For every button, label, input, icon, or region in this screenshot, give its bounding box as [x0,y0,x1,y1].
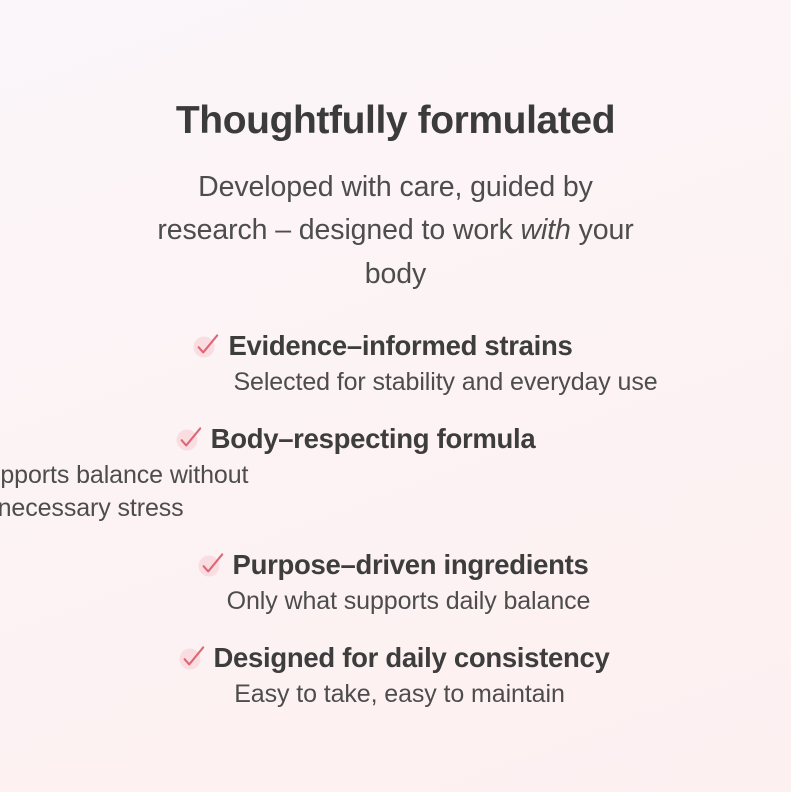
feature-description-line: Only what supports daily balance [26,585,791,618]
promo-panel: Thoughtfully formulated Developed with c… [0,0,791,792]
feature-description-line: Supports balance without [0,459,791,492]
feature-description-line: Selected for stability and everyday use [100,366,791,399]
feature-list: Evidence–informed strains Selected for s… [0,328,791,711]
page-subtitle-emphasis: with [520,214,570,246]
feature-item: Body–respecting formula Supports balance… [0,421,791,525]
check-circle-icon [197,551,225,579]
feature-heading-row: Purpose–driven ingredients [233,547,589,583]
check-circle-icon [178,644,206,672]
check-circle-icon [192,332,220,360]
page-title: Thoughtfully formulated [0,98,791,144]
feature-description-line: Easy to take, easy to maintain [8,678,791,711]
feature-item: Purpose–driven ingredients Only what sup… [0,547,791,618]
feature-heading-row: Evidence–informed strains [228,328,572,364]
header: Thoughtfully formulated Developed with c… [0,0,791,296]
feature-title: Purpose–driven ingredients [233,547,589,583]
feature-description-line: unnecessary stress [0,492,791,525]
feature-item: Designed for daily consistency Easy to t… [0,640,791,711]
feature-title: Evidence–informed strains [228,328,572,364]
feature-item: Evidence–informed strains Selected for s… [0,328,791,399]
check-circle-icon [175,425,203,453]
feature-description: Easy to take, easy to maintain [8,678,791,711]
feature-title: Designed for daily consistency [214,640,610,676]
feature-description: Only what supports daily balance [26,585,791,618]
feature-title: Body–respecting formula [211,421,536,457]
page-subtitle: Developed with care, guided by research … [146,166,646,296]
feature-heading-row: Body–respecting formula [211,421,536,457]
feature-heading-row: Designed for daily consistency [214,640,610,676]
feature-description: Supports balance without unnecessary str… [0,459,791,526]
feature-description: Selected for stability and everyday use [100,366,791,399]
